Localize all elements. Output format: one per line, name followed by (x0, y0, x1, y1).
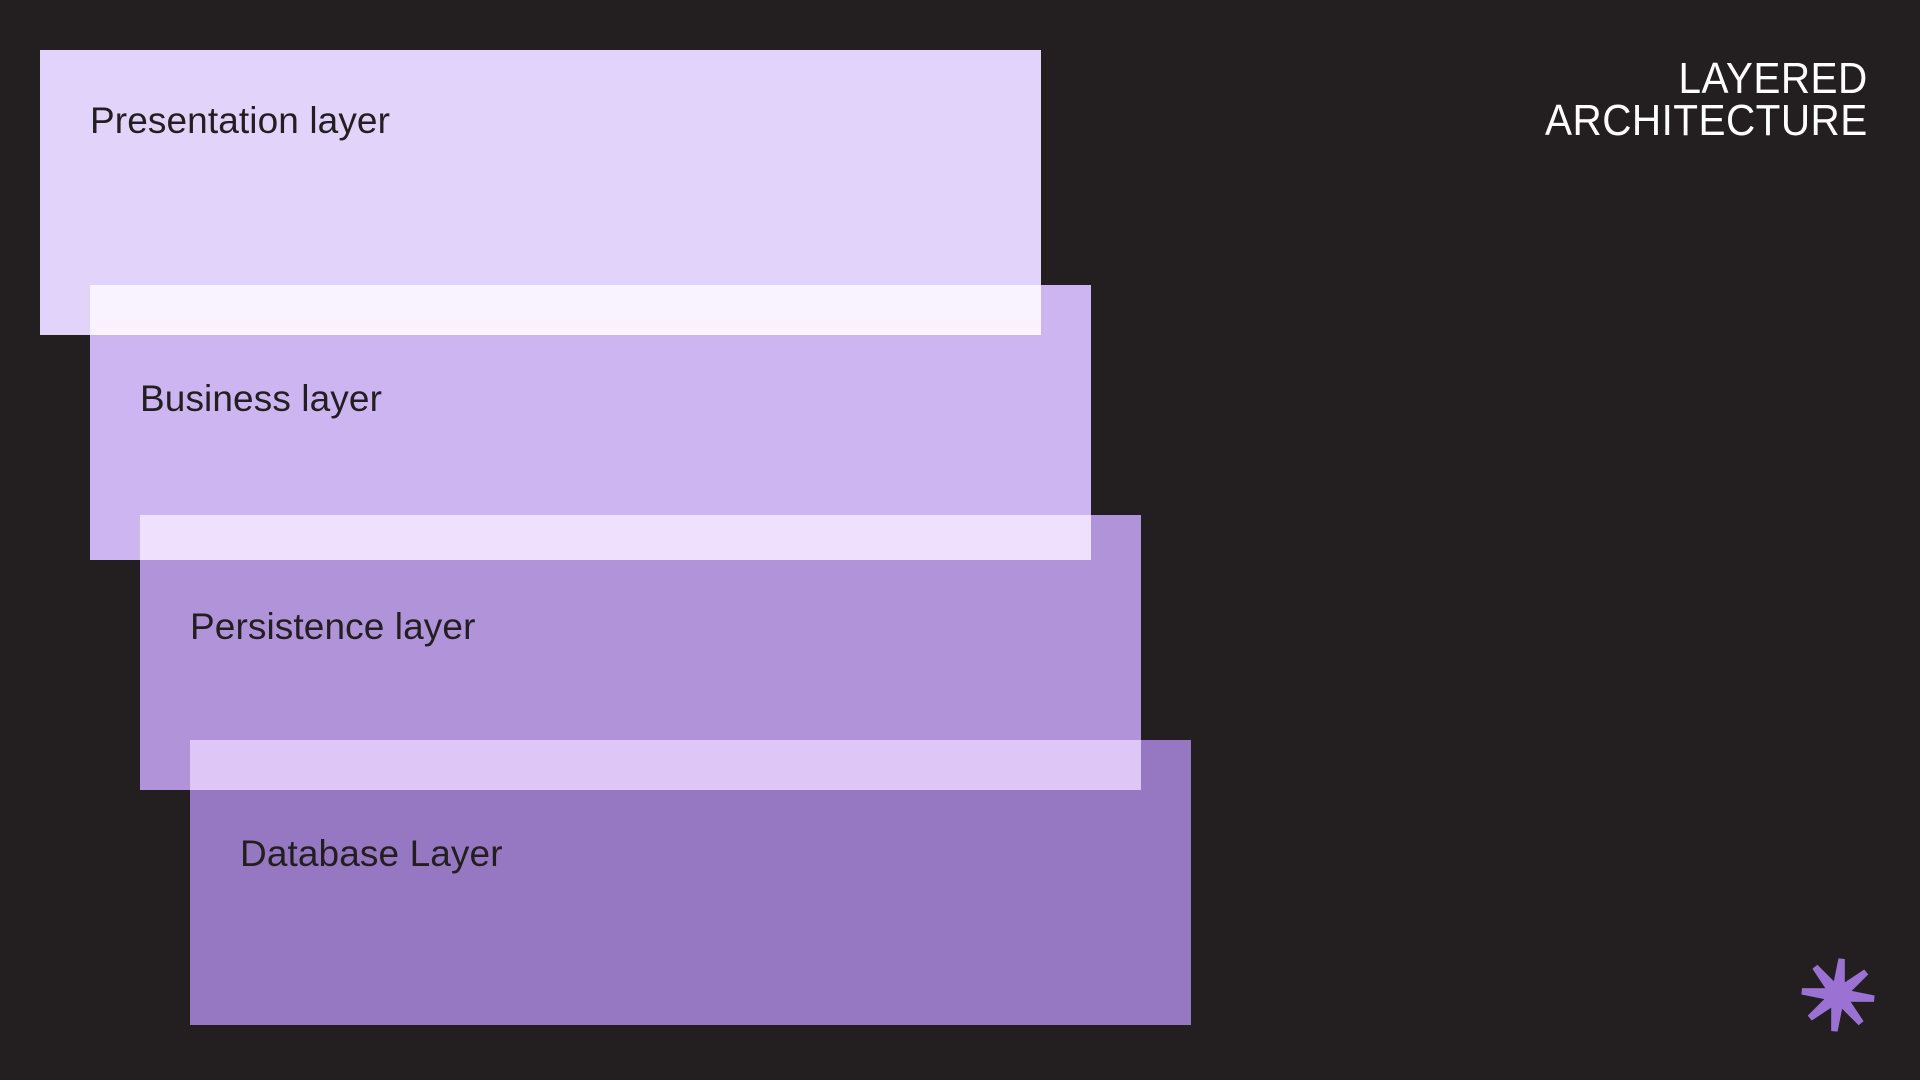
layer-box-database[interactable] (190, 740, 1191, 1025)
asterisk-sparkle-icon (1800, 957, 1876, 1033)
layer-label-presentation: Presentation layer (90, 102, 390, 139)
slide-canvas: LAYERED ARCHITECTURE Presentation layer … (0, 0, 1920, 1080)
layer-label-business: Business layer (140, 380, 382, 417)
layer-stack (0, 0, 1920, 1080)
layer-label-database: Database Layer (240, 835, 503, 872)
layer-label-persistence: Persistence layer (190, 608, 476, 645)
